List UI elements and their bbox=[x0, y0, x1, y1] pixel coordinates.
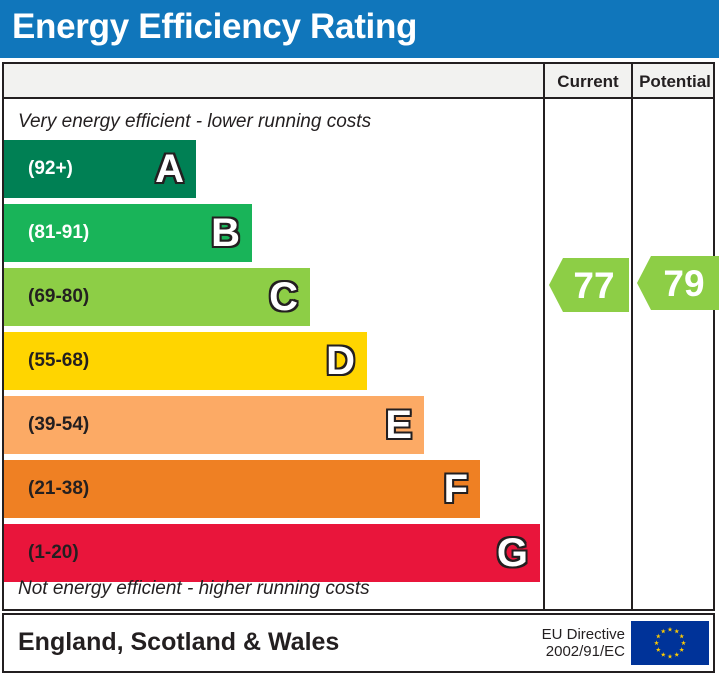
band-letter-d: D bbox=[326, 341, 355, 381]
directive-line-2: 2002/91/EC bbox=[542, 643, 625, 660]
band-letter-a: A bbox=[155, 149, 184, 189]
caption-not-efficient: Not energy efficient - higher running co… bbox=[18, 578, 370, 600]
band-range-c: (69-80) bbox=[28, 286, 89, 308]
band-letter-e: E bbox=[385, 405, 412, 445]
band-range-a: (92+) bbox=[28, 158, 73, 180]
band-row-b: (81-91) B bbox=[4, 204, 252, 262]
band-letter-g: G bbox=[497, 533, 528, 573]
rating-table-frame: Current Potential Very energy efficient … bbox=[2, 62, 715, 611]
caption-efficient: Very energy efficient - lower running co… bbox=[18, 111, 371, 133]
column-divider-potential-body bbox=[631, 99, 633, 609]
potential-rating-arrow: 79 bbox=[637, 256, 719, 310]
column-header-row: Current Potential bbox=[4, 64, 713, 99]
band-range-b: (81-91) bbox=[28, 222, 89, 244]
band-letter-f: F bbox=[444, 469, 468, 509]
current-rating-value: 77 bbox=[563, 267, 614, 304]
chart-footer: England, Scotland & Wales EU Directive 2… bbox=[2, 613, 715, 673]
page-title: Energy Efficiency Rating bbox=[12, 7, 417, 47]
band-row-d: (55-68) D bbox=[4, 332, 367, 390]
band-row-f: (21-38) F bbox=[4, 460, 480, 518]
band-row-e: (39-54) E bbox=[4, 396, 424, 454]
band-row-a: (92+) A bbox=[4, 140, 196, 198]
column-divider-current-body bbox=[543, 99, 545, 609]
band-range-e: (39-54) bbox=[28, 414, 89, 436]
energy-efficiency-rating-chart: Energy Efficiency Rating Current Potenti… bbox=[0, 0, 719, 675]
directive-line-1: EU Directive bbox=[542, 626, 625, 643]
band-range-g: (1-20) bbox=[28, 542, 79, 564]
eu-flag-icon bbox=[631, 621, 709, 665]
band-row-g: (1-20) G bbox=[4, 524, 540, 582]
band-row-c: (69-80) C bbox=[4, 268, 310, 326]
band-letter-c: C bbox=[269, 277, 298, 317]
band-list: (92+) A (81-91) B (69-80) C (55-68) D (3… bbox=[4, 140, 543, 588]
band-range-f: (21-38) bbox=[28, 478, 89, 500]
current-rating-arrow: 77 bbox=[549, 258, 629, 312]
column-header-current: Current bbox=[545, 72, 631, 92]
rating-scale-area: Very energy efficient - lower running co… bbox=[4, 99, 543, 609]
footer-directive-label: EU Directive 2002/91/EC bbox=[542, 626, 625, 660]
footer-region-label: England, Scotland & Wales bbox=[18, 628, 339, 657]
band-letter-b: B bbox=[211, 213, 240, 253]
band-range-d: (55-68) bbox=[28, 350, 89, 372]
potential-rating-value: 79 bbox=[653, 265, 704, 302]
chart-title-bar: Energy Efficiency Rating bbox=[0, 0, 719, 58]
column-header-potential: Potential bbox=[633, 72, 717, 92]
